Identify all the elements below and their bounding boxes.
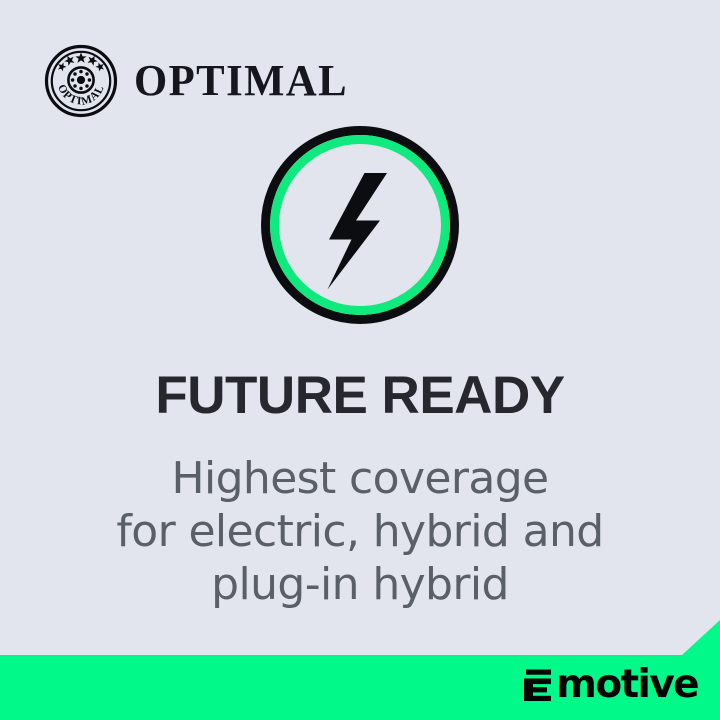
page-subtitle: Highest coverage for electric, hybrid an… [0, 452, 720, 612]
brand-wordmark: OPTIMAL [134, 59, 348, 103]
footer-banner: motive [0, 620, 720, 720]
optimal-seal-emblem: OPTIMAL [44, 44, 118, 118]
emotive-e-mark [522, 664, 556, 704]
subtitle-line-1: Highest coverage [0, 452, 720, 505]
emotive-logo: motive [522, 664, 698, 704]
page-title: FUTURE READY [0, 369, 720, 422]
subtitle-line-3: plug-in hybrid [0, 558, 720, 611]
lightning-bolt-icon [328, 173, 388, 290]
lightning-bolt-badge [261, 126, 459, 324]
brand-lockup: OPTIMAL OPTIMAL [44, 44, 355, 118]
promo-card: OPTIMAL OPTIMAL [0, 0, 720, 720]
subtitle-line-2: for electric, hybrid and [0, 505, 720, 558]
emotive-wordmark: motive [556, 665, 698, 704]
